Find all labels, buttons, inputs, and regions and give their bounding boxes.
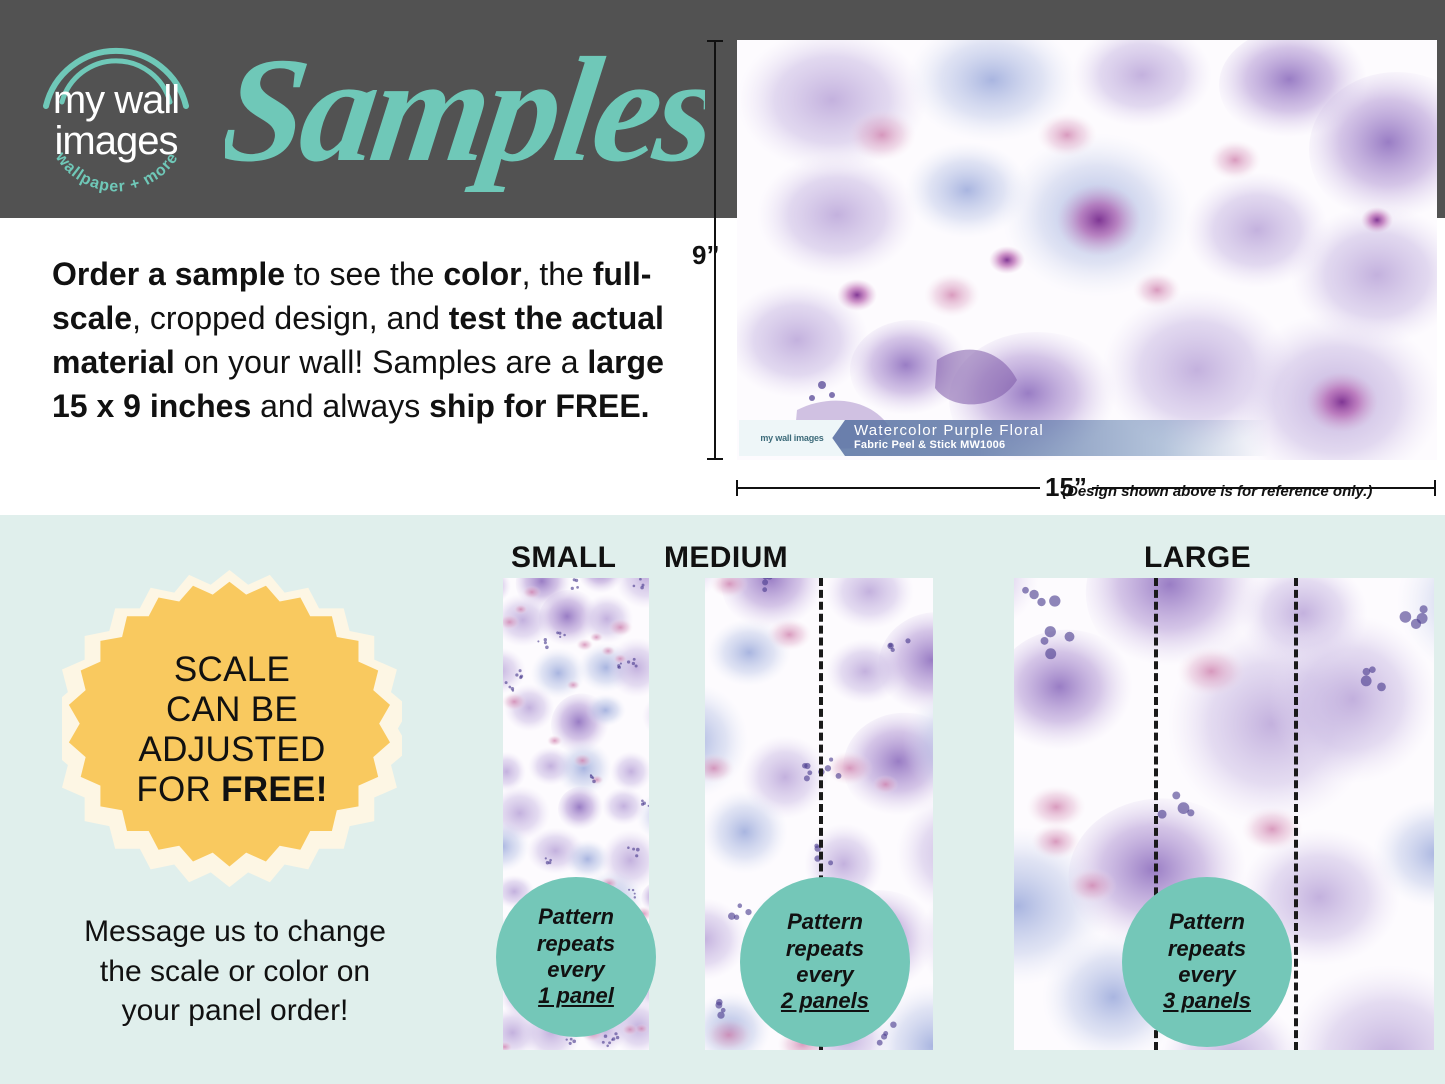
- design-name-text: Watercolor Purple Floral: [854, 423, 1044, 439]
- message-line-3: your panel order!: [30, 991, 440, 1031]
- message-line-2: the scale or color on: [30, 952, 440, 992]
- intro-segment: Order a sample: [52, 256, 285, 292]
- message-line-1: Message us to change: [30, 912, 440, 952]
- svg-text:my wall: my wall: [53, 78, 179, 122]
- intro-segment: on your wall! Samples are a: [175, 344, 588, 380]
- scale-title-small: SMALL: [511, 541, 616, 575]
- badge-line-1: SCALE: [174, 650, 290, 690]
- message-us-text: Message us to change the scale or color …: [30, 912, 440, 1031]
- panel-divider-large-2: [1294, 578, 1298, 1050]
- intro-paragraph: Order a sample to see the color, the ful…: [52, 252, 682, 429]
- repeat-bubble-small: Pattern repeats every 1 panel: [496, 877, 656, 1037]
- label-brand-logo: my wall images: [739, 420, 845, 456]
- badge-line-4-emphasis: FREE!: [221, 770, 328, 809]
- intro-segment: , cropped design, and: [132, 300, 449, 336]
- repeat-small-line-4: 1 panel: [537, 983, 615, 1009]
- badge-line-4-prefix: FOR: [136, 770, 221, 809]
- watercolor-pattern-svg: [737, 40, 1437, 460]
- label-brand-name: my wall images: [760, 434, 823, 443]
- intro-segment: , the: [522, 256, 593, 292]
- repeat-bubble-large: Pattern repeats every 3 panels: [1122, 877, 1292, 1047]
- repeat-medium-line-2: repeats: [781, 936, 869, 962]
- intro-segment: to see the: [285, 256, 443, 292]
- badge-line-3: ADJUSTED: [138, 730, 325, 770]
- repeat-small-line-1: Pattern: [537, 904, 615, 930]
- watercolor-floral-artwork: [737, 40, 1437, 460]
- badge-line-2: CAN BE: [166, 690, 298, 730]
- repeat-medium-line-3: every: [781, 962, 869, 988]
- badge-text-block: SCALE CAN BE ADJUSTED FOR FREE!: [62, 560, 402, 900]
- repeat-medium-line-1: Pattern: [781, 909, 869, 935]
- repeat-small-line-3: every: [537, 957, 615, 983]
- scale-title-medium: MEDIUM: [664, 541, 788, 575]
- repeat-small-line-2: repeats: [537, 931, 615, 957]
- design-material-text: Fabric Peel & Stick MW1006: [854, 439, 1044, 453]
- height-dimension-label: 9”: [692, 240, 719, 271]
- reference-only-note: (Design shown above is for reference onl…: [1062, 483, 1372, 500]
- repeat-bubble-medium: Pattern repeats every 2 panels: [740, 877, 910, 1047]
- design-name-label: my wall images Watercolor Purple Floral …: [739, 420, 1269, 456]
- repeat-large-line-2: repeats: [1163, 936, 1251, 962]
- intro-segment: ship for FREE.: [429, 388, 649, 424]
- repeat-large-line-4: 3 panels: [1163, 988, 1251, 1014]
- repeat-large-line-1: Pattern: [1163, 909, 1251, 935]
- intro-segment: color: [443, 256, 521, 292]
- badge-line-4: FOR FREE!: [136, 770, 327, 810]
- samples-script-title: Samples: [225, 28, 705, 203]
- sample-preview-image: my wall images Watercolor Purple Floral …: [737, 40, 1437, 460]
- svg-text:Samples: Samples: [225, 28, 705, 193]
- intro-segment: and always: [251, 388, 429, 424]
- scale-title-large: LARGE: [1144, 541, 1251, 575]
- brand-logo: my wall images wallpaper + more: [18, 28, 214, 203]
- repeat-large-line-3: every: [1163, 962, 1251, 988]
- svg-text:images: images: [55, 119, 178, 163]
- repeat-medium-line-4: 2 panels: [781, 988, 869, 1014]
- scale-adjust-badge: SCALE CAN BE ADJUSTED FOR FREE!: [62, 560, 402, 900]
